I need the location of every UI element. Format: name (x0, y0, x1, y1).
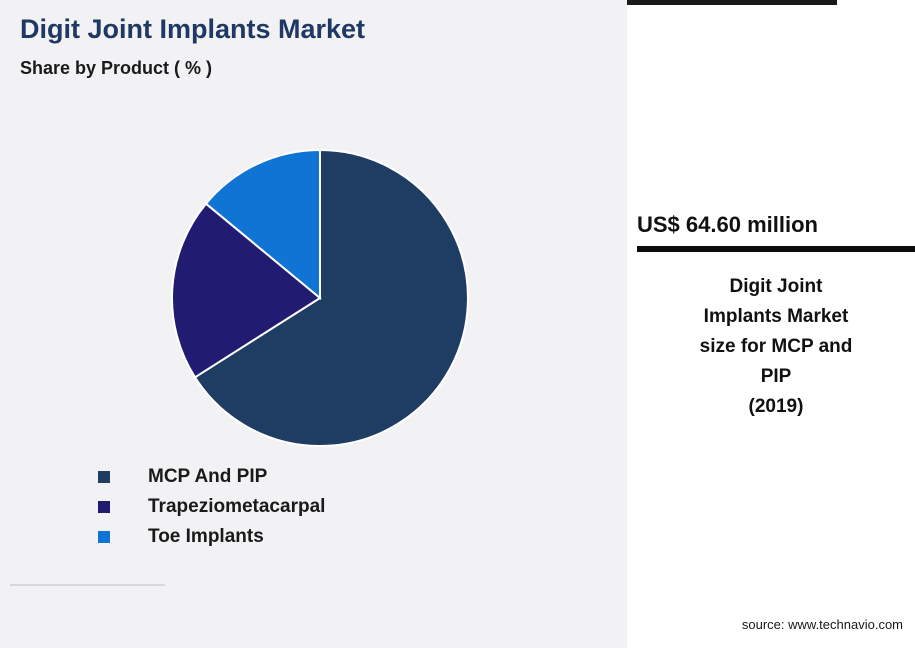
legend-swatch-icon (98, 471, 110, 483)
divider (10, 584, 165, 586)
callout-value-band: US$ 64.60 million (637, 212, 915, 252)
pie-chart (170, 148, 470, 448)
legend-item-mcp-and-pip: MCP And PIP (98, 462, 528, 492)
legend-label: MCP And PIP (148, 466, 267, 488)
callout-value: US$ 64.60 million (637, 212, 915, 238)
callout-caption-line: Implants Market (637, 302, 915, 332)
chart-subtitle: Share by Product ( % ) (20, 58, 212, 79)
legend-item-toe-implants: Toe Implants (98, 522, 528, 552)
chart-legend: MCP And PIP Trapeziometacarpal Toe Impla… (98, 462, 528, 552)
callout-panel: US$ 64.60 million Digit Joint Implants M… (627, 0, 915, 648)
legend-label: Toe Implants (148, 526, 264, 548)
legend-swatch-icon (98, 501, 110, 513)
page-title: Digit Joint Implants Market (20, 14, 365, 45)
chart-page: Digit Joint Implants Market Share by Pro… (0, 0, 915, 648)
legend-label: Trapeziometacarpal (148, 496, 325, 518)
source-attribution: source: www.technavio.com (742, 617, 903, 632)
legend-swatch-icon (98, 531, 110, 543)
chart-panel: Digit Joint Implants Market Share by Pro… (0, 0, 627, 648)
legend-item-trapeziometacarpal: Trapeziometacarpal (98, 492, 528, 522)
top-accent-bar (627, 0, 837, 5)
callout-caption-line: PIP (637, 362, 915, 392)
pie-chart-svg (170, 148, 470, 448)
callout-caption-line: (2019) (637, 392, 915, 422)
callout-caption-line: size for MCP and (637, 332, 915, 362)
callout-caption-line: Digit Joint (637, 272, 915, 302)
callout-caption: Digit Joint Implants Market size for MCP… (637, 272, 915, 422)
